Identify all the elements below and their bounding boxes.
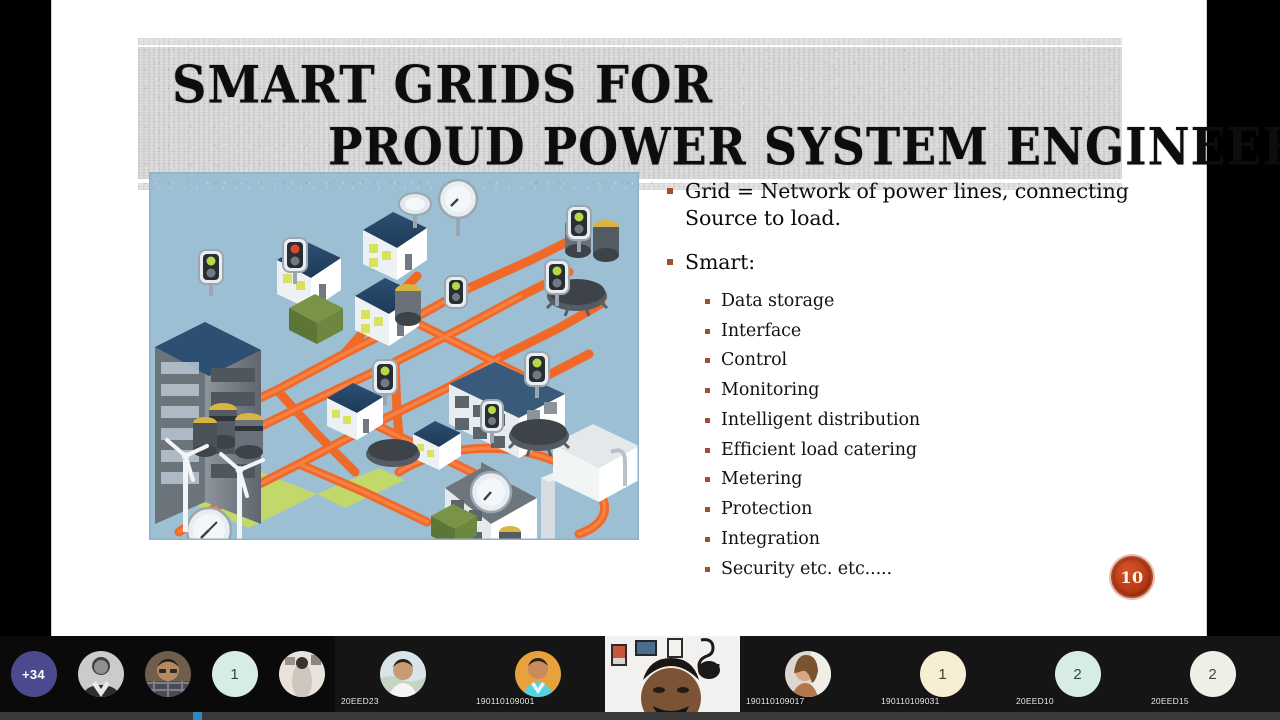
- meeting-screen-share-window: SMART GRIDS FOR PROUD POWER SYSTEM ENGIN…: [0, 0, 1280, 720]
- participant-tile[interactable]: 20EED23: [335, 636, 470, 712]
- bullet-marker-icon: [705, 448, 710, 453]
- sub-bullet-text: Monitoring: [721, 379, 819, 402]
- bullet-marker-icon: [705, 507, 710, 512]
- avatar: [279, 651, 325, 697]
- bullet-text: Smart:: [685, 249, 755, 276]
- participant-tile[interactable]: 1: [201, 636, 268, 712]
- avatar: [785, 651, 831, 697]
- sub-bullet-text: Intelligent distribution: [721, 409, 920, 432]
- sub-bullet-text: Control: [721, 349, 787, 372]
- participant-tile[interactable]: [67, 636, 134, 712]
- initial-avatar: 2: [1055, 651, 1101, 697]
- slide-sub-bullet-list: Data storage Interface Control Monitorin…: [705, 290, 1137, 581]
- bullet-item: Grid = Network of power lines, connectin…: [667, 178, 1137, 233]
- bullet-marker-icon: [667, 259, 673, 265]
- bullet-marker-icon: [705, 477, 710, 482]
- participant-name: 20EED10: [1016, 696, 1054, 706]
- bullet-marker-icon: [705, 329, 710, 334]
- bullet-text: Grid = Network of power lines, connectin…: [685, 178, 1137, 233]
- participant-tile[interactable]: 2 20EED15: [1145, 636, 1280, 712]
- participant-name: 190110109017: [746, 696, 805, 706]
- sub-bullet-text: Metering: [721, 468, 802, 491]
- slide-title-banner: SMART GRIDS FOR PROUD POWER SYSTEM ENGIN…: [138, 38, 1122, 190]
- initial-avatar: 2: [1190, 651, 1236, 697]
- participant-tile-overflow[interactable]: +34: [0, 636, 67, 712]
- participant-name: 190110109031: [881, 696, 940, 706]
- list-item: Intelligent distribution: [705, 409, 1137, 432]
- avatar-initial-label: 1: [938, 666, 946, 683]
- list-item: Interface: [705, 320, 1137, 343]
- participant-tile[interactable]: [134, 636, 201, 712]
- participant-tile[interactable]: 190110109001: [470, 636, 605, 712]
- bullet-marker-icon: [705, 537, 710, 542]
- slide-number-text: 10: [1120, 568, 1143, 587]
- sub-bullet-text: Integration: [721, 528, 820, 551]
- bullet-marker-icon: [705, 358, 710, 363]
- initial-avatar: 1: [920, 651, 966, 697]
- participant-tile[interactable]: 1 190110109031: [875, 636, 1010, 712]
- bullet-item: Smart:: [667, 249, 1137, 276]
- list-item: Efficient load catering: [705, 439, 1137, 462]
- avatar-initial-label: 2: [1073, 666, 1081, 683]
- slide-number-badge: 10: [1111, 556, 1153, 598]
- initial-avatar: 1: [212, 651, 258, 697]
- overflow-count-label: +34: [22, 667, 45, 682]
- slide-title-line-2: PROUD POWER SYSTEM ENGINEERS: [328, 116, 1280, 177]
- avatar-initial-label: 1: [230, 666, 238, 683]
- participant-tile[interactable]: 2 20EED10: [1010, 636, 1145, 712]
- banner-top-strip: [138, 38, 1122, 45]
- participant-filmstrip: +34: [0, 636, 1280, 712]
- list-item: Security etc. etc.....: [705, 558, 1137, 581]
- avatar-initial-label: 2: [1208, 666, 1216, 683]
- bullet-marker-icon: [705, 388, 710, 393]
- avatar: [145, 651, 191, 697]
- sub-bullet-text: Security etc. etc.....: [721, 558, 892, 581]
- participant-tile[interactable]: 190110109017: [740, 636, 875, 712]
- participant-tile-active-speaker[interactable]: [605, 636, 740, 712]
- sub-bullet-text: Interface: [721, 320, 801, 343]
- smart-grid-illustration: [149, 172, 639, 540]
- bullet-marker-icon: [705, 567, 710, 572]
- list-item: Protection: [705, 498, 1137, 521]
- sub-bullet-text: Data storage: [721, 290, 834, 313]
- avatar: [78, 651, 124, 697]
- bullet-marker-icon: [705, 299, 710, 304]
- avatar: [380, 651, 426, 697]
- sub-bullet-text: Protection: [721, 498, 812, 521]
- list-item: Monitoring: [705, 379, 1137, 402]
- bullet-marker-icon: [667, 188, 673, 194]
- list-item: Integration: [705, 528, 1137, 551]
- avatar: [515, 651, 561, 697]
- bullet-marker-icon: [705, 418, 710, 423]
- scrollbar-thumb[interactable]: [193, 712, 202, 720]
- slide-bullet-list: Grid = Network of power lines, connectin…: [667, 178, 1137, 587]
- shared-screen-stage: SMART GRIDS FOR PROUD POWER SYSTEM ENGIN…: [0, 0, 1280, 636]
- sub-bullet-text: Efficient load catering: [721, 439, 917, 462]
- slide-title-line-1: SMART GRIDS FOR: [172, 54, 713, 115]
- participant-name: 20EED15: [1151, 696, 1189, 706]
- overflow-count-avatar: +34: [11, 651, 57, 697]
- participant-name: 190110109001: [476, 696, 535, 706]
- participant-tile[interactable]: [268, 636, 335, 712]
- list-item: Metering: [705, 468, 1137, 491]
- horizontal-scrollbar[interactable]: [0, 712, 1280, 720]
- presentation-slide[interactable]: SMART GRIDS FOR PROUD POWER SYSTEM ENGIN…: [52, 0, 1206, 636]
- list-item: Control: [705, 349, 1137, 372]
- participant-name: 20EED23: [341, 696, 379, 706]
- list-item: Data storage: [705, 290, 1137, 313]
